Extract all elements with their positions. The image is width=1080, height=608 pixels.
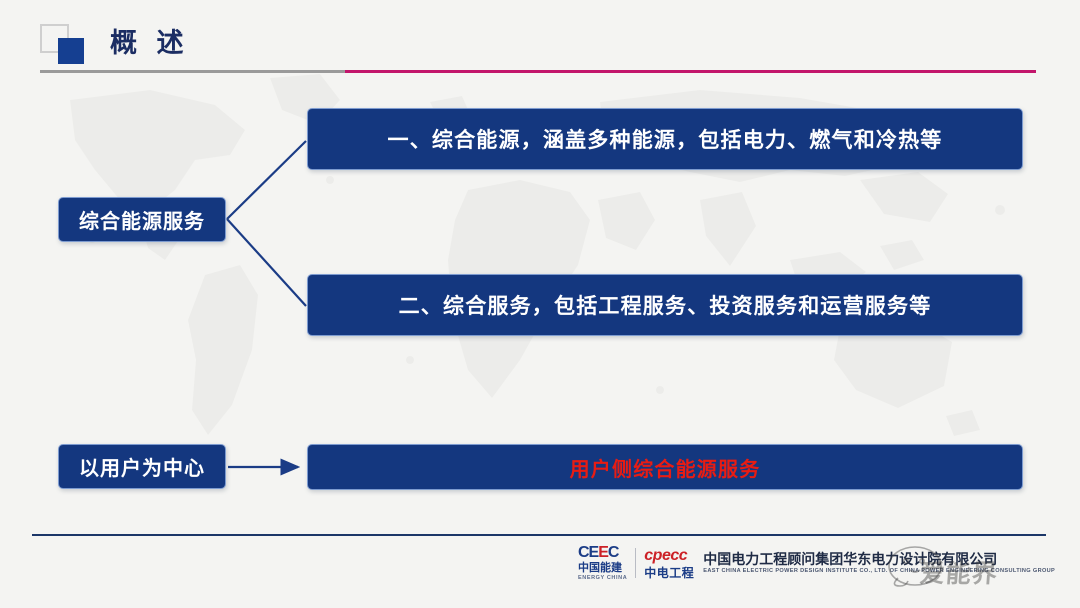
company-name-en: EAST CHINA ELECTRIC POWER DESIGN INSTITU… (703, 569, 1055, 575)
company-name-block: 中国电力工程顾问集团华东电力设计院有限公司 EAST CHINA ELECTRI… (703, 552, 1055, 575)
ceec-logo: CEEC 中国能建 ENERGY CHINA (578, 545, 627, 582)
label-box-user-centric[interactable]: 以用户为中心 (58, 444, 226, 489)
cpecc-logo: cpecc 中电工程 (644, 548, 694, 579)
title-rule-crimson (345, 70, 1036, 73)
ceec-chinese-name: 中国能建 (578, 563, 622, 574)
label-box-1-text: 综合能源服务 (79, 205, 205, 234)
label-box-integrated-energy-service[interactable]: 综合能源服务 (58, 197, 226, 242)
branch-box-2[interactable]: 二、综合服务，包括工程服务、投资服务和运营服务等 (307, 274, 1023, 336)
ceec-wordmark-b: C (608, 544, 619, 561)
filled-square-icon (58, 38, 84, 64)
ceec-wordmark-red: E (598, 544, 608, 561)
page-title: 概 述 (110, 24, 190, 62)
branch-box-2-text: 二、综合服务，包括工程服务、投资服务和运营服务等 (399, 290, 932, 320)
slide-canvas: 概 述 一、综合能源，涵盖多种能源，包括电力、燃气和冷热等 二、综合服务，包括工… (0, 0, 1080, 608)
ceec-wordmark: CEEC (578, 545, 618, 561)
cpecc-wordmark: cpecc (644, 548, 687, 564)
company-name-cn: 中国电力工程顾问集团华东电力设计院有限公司 (703, 552, 1055, 566)
ceec-english-name: ENERGY CHINA (578, 576, 627, 582)
branch-box-1-text: 一、综合能源，涵盖多种能源，包括电力、燃气和冷热等 (388, 124, 943, 154)
conclusion-box[interactable]: 用户侧综合能源服务 (307, 444, 1023, 490)
cpecc-chinese-name: 中电工程 (644, 567, 694, 579)
footer-divider (32, 534, 1046, 536)
conclusion-box-text: 用户侧综合能源服务 (570, 453, 761, 482)
logo-divider (635, 548, 636, 578)
ceec-wordmark-a: CE (578, 544, 598, 561)
footer-branding: CEEC 中国能建 ENERGY CHINA cpecc 中电工程 中国电力工程… (578, 541, 1055, 585)
title-square-mark-icon (40, 24, 84, 64)
title-rule-gray (40, 70, 346, 73)
branch-box-1[interactable]: 一、综合能源，涵盖多种能源，包括电力、燃气和冷热等 (307, 108, 1023, 170)
label-box-2-text: 以用户为中心 (79, 452, 205, 481)
